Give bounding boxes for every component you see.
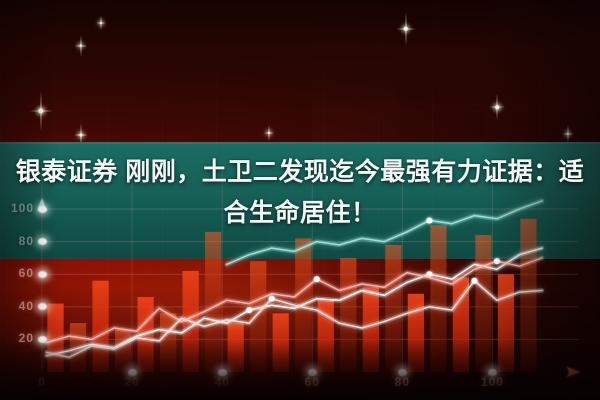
chart-data-point	[471, 278, 477, 284]
chart-bar	[273, 313, 289, 372]
chart-bar	[115, 330, 131, 372]
chart-data-point	[494, 258, 500, 264]
chart-data-point	[269, 296, 275, 302]
thumbnail-canvas: 20406080100020406080100 银泰证券 刚刚，土卫二发现迄今最…	[0, 0, 600, 400]
chart-bar	[92, 281, 108, 372]
chart-data-point	[314, 276, 320, 282]
chart-bar	[430, 225, 446, 372]
chart-bar	[498, 274, 514, 372]
chart-bar	[475, 235, 491, 372]
page-title: 银泰证券 刚刚，土卫二发现迄今最强有力证据：适合生命居住！	[8, 152, 592, 234]
chart-bar	[340, 258, 356, 372]
chart-bar	[408, 294, 424, 372]
chart-bar	[228, 323, 244, 372]
chart-bar	[520, 219, 536, 372]
chart-data-point	[246, 307, 252, 313]
chart-bar	[363, 287, 379, 372]
chart-bar	[385, 245, 401, 372]
chart-bar	[160, 313, 176, 372]
